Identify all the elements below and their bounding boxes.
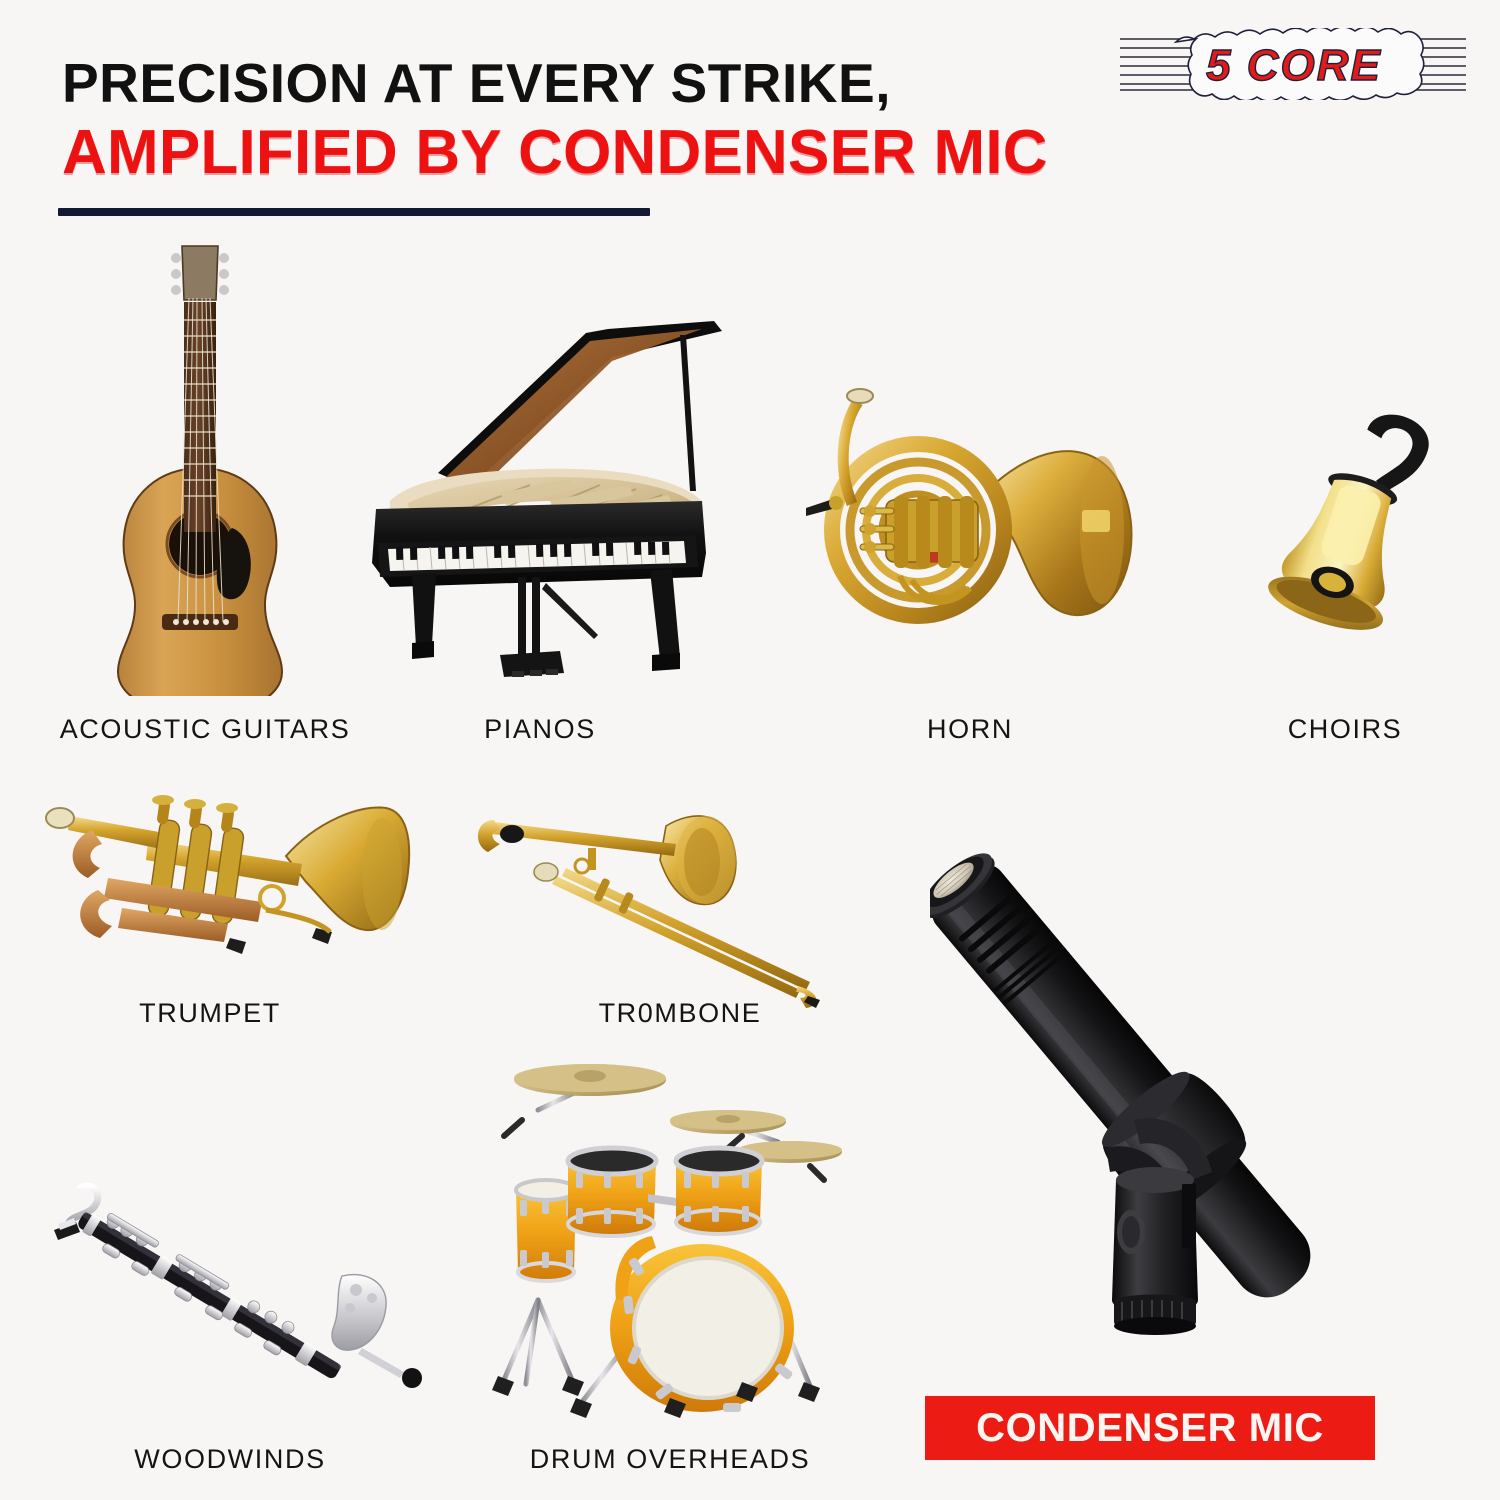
condenser-mic-badge: CONDENSER MIC [925,1396,1375,1460]
clarinet-image [50,1180,450,1400]
headline-line-1: PRECISION AT EVERY STRIKE, [62,56,891,111]
poster-canvas: PRECISION AT EVERY STRIKE, AMPLIFIED BY … [0,0,1500,1500]
rack-tom-left [568,1148,656,1236]
crash-cymbal-left [514,1064,666,1096]
condenser-mic-badge-label: CONDENSER MIC [976,1406,1324,1451]
item-label-trumpet: TRUMPET [80,998,340,1029]
item-label-acoustic-guitars: ACOUSTIC GUITARS [25,714,385,745]
headline-underline [58,208,650,216]
brand-logo: 5 CORE [1118,28,1468,100]
handbell-image [1225,395,1475,655]
rack-tom-right [648,1148,762,1234]
crash-cymbal-right [670,1110,786,1134]
item-label-horn: HORN [820,714,1120,745]
bass-drum [610,1236,794,1412]
floor-tom [516,1180,576,1283]
item-label-pianos: PIANOS [400,714,680,745]
item-label-woodwinds: WOODWINDS [60,1444,400,1475]
trombone-image [470,800,920,1010]
trumpet-image [30,782,430,982]
item-label-drum-overheads: DRUM OVERHEADS [490,1444,850,1475]
item-label-trombone: TR0MBONE [500,998,860,1029]
headline-line-2: AMPLIFIED BY CONDENSER MIC [62,122,1048,184]
grand-piano-image [350,305,750,695]
drum-kit-image [480,1050,860,1450]
mic-stand-socket [1112,1167,1198,1335]
french-horn-image [790,380,1150,660]
condenser-microphone-image [930,780,1360,1400]
item-label-choirs: CHOIRS [1195,714,1495,745]
logo-wordmark: 5 CORE [1206,41,1382,90]
svg-text:5 CORE: 5 CORE [1206,41,1382,90]
acoustic-guitar-image [90,236,310,696]
